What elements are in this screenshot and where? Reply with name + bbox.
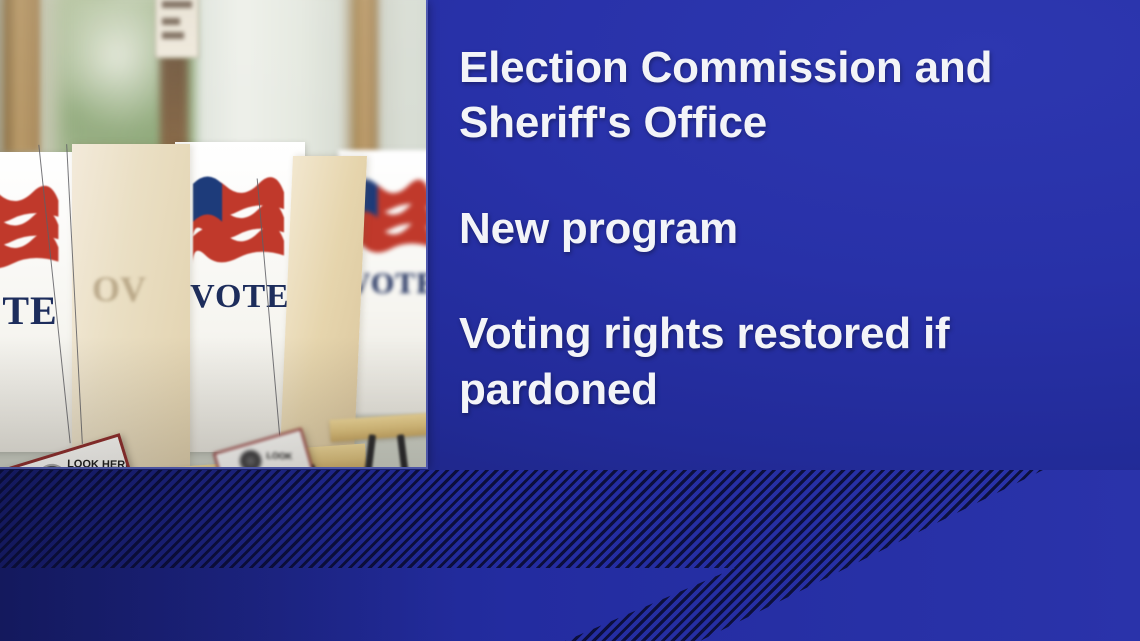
photo-wood-post-right [352, 0, 378, 162]
chevron-hatch-motif [0, 470, 1140, 641]
lower-graphic-band [0, 470, 1140, 641]
headline-primary: Election Commission and Sheriff's Office [459, 40, 1059, 151]
news-photo: OTE VOTE [0, 0, 426, 467]
headline-tertiary: Voting rights restored if pardoned [459, 306, 1059, 417]
official-seal-icon [36, 463, 68, 467]
voting-booth-row: OTE VOTE [0, 148, 426, 467]
booth-leg [397, 434, 426, 467]
headline-secondary: New program [459, 201, 1059, 256]
us-flag-icon [193, 167, 284, 272]
official-seal-icon [238, 449, 263, 467]
photo-building-wall [196, 0, 346, 165]
partition-ghost-text: OV [92, 268, 178, 330]
look-here-label: LOOK [266, 450, 292, 461]
booth-vote-label: OTE [0, 287, 80, 334]
photo-canvas: OTE VOTE [0, 0, 426, 467]
photo-wall-sign [155, 0, 199, 58]
photo-wood-post-left [4, 0, 40, 152]
headline-column: Election Commission and Sheriff's Office… [459, 40, 1059, 417]
broadcast-lower-third-graphic: OTE VOTE [0, 0, 1140, 641]
look-here-label: LOOK HERE! [67, 458, 136, 467]
